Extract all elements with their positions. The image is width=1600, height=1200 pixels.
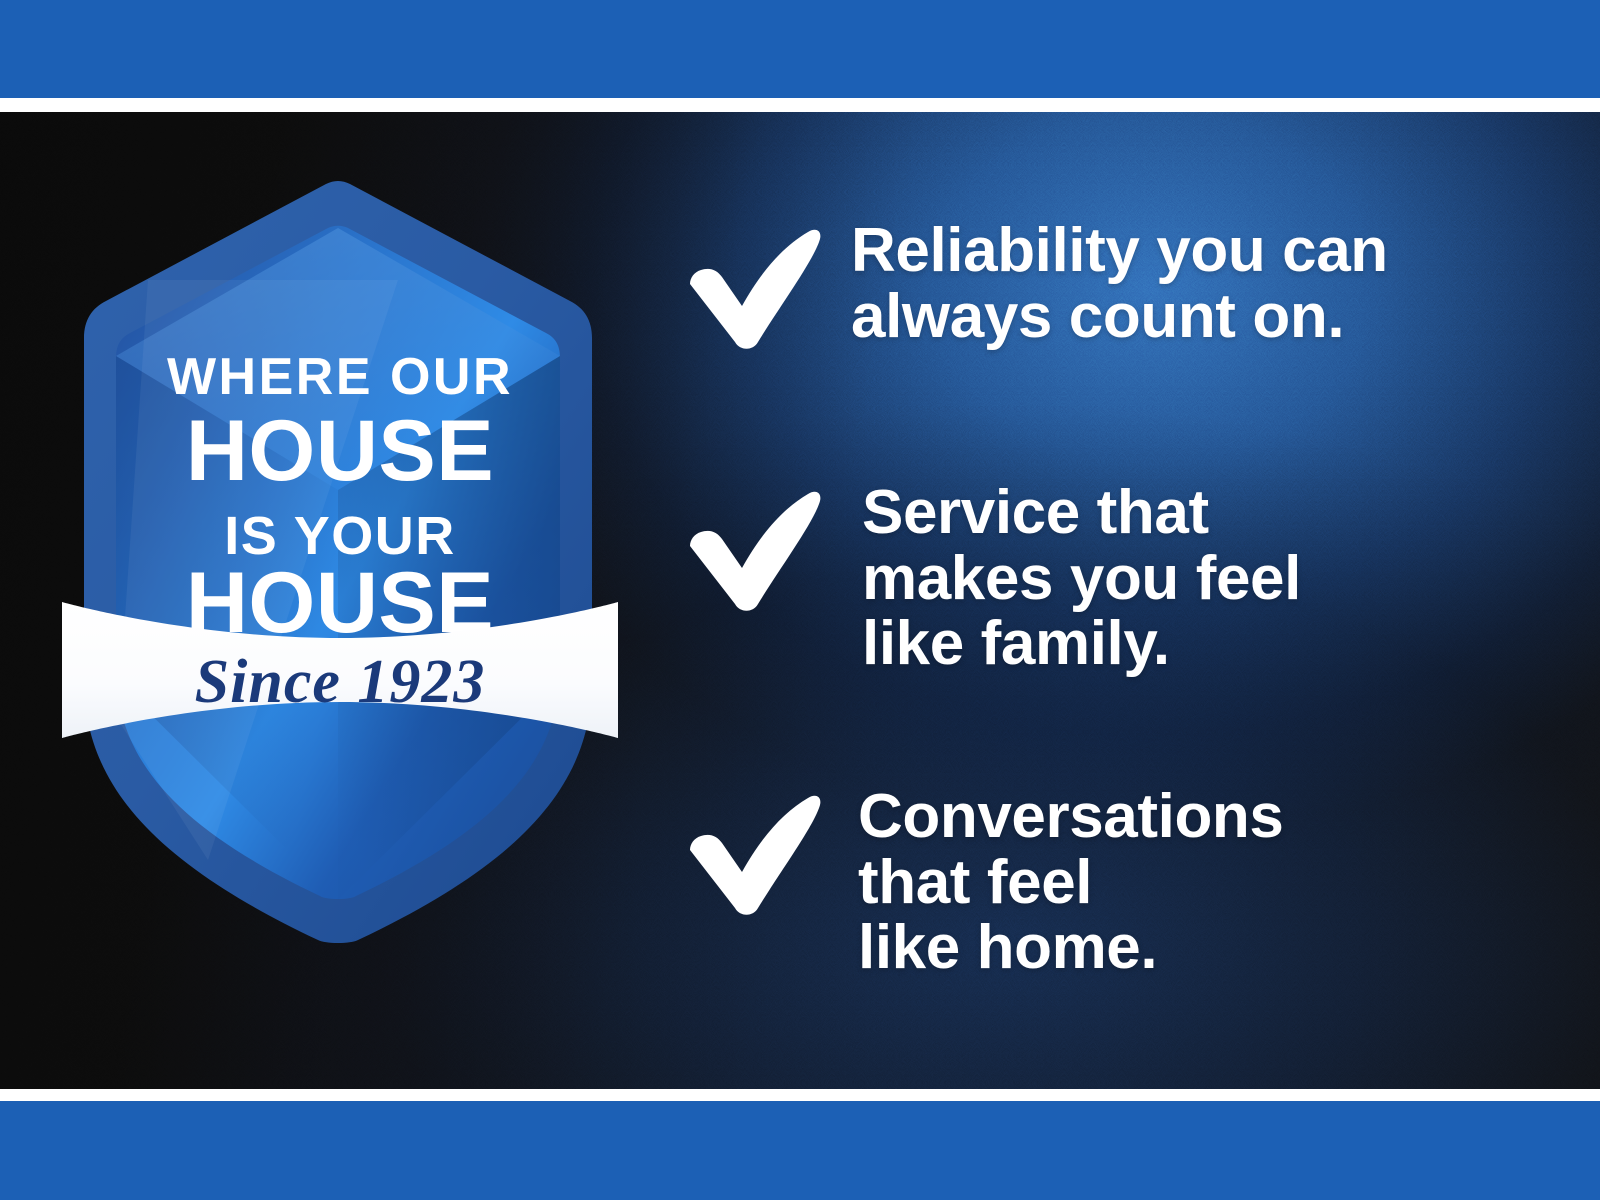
promo-poster: WHERE OUR HOUSE IS YOUR HOUSE Since 1923… — [0, 0, 1600, 1200]
shield-line-1: WHERE OUR — [167, 348, 513, 406]
top-brand-bar — [0, 0, 1600, 98]
list-item: Conversations that feel like home. — [672, 784, 1283, 981]
since-banner-text: Since 1923 — [195, 648, 486, 716]
list-item-label: Conversations that feel like home. — [824, 784, 1283, 981]
checkmark-icon — [672, 484, 824, 614]
checkmark-icon — [672, 788, 824, 918]
list-item-label: Reliability you can always count on. — [824, 218, 1388, 349]
bottom-brand-bar — [0, 1101, 1600, 1200]
list-item: Reliability you can always count on. — [672, 218, 1388, 352]
heritage-shield-badge: WHERE OUR HOUSE IS YOUR HOUSE Since 1923 — [58, 160, 618, 950]
shield-line-2: HOUSE — [186, 403, 494, 499]
list-item-label: Service that makes you feel like family. — [824, 480, 1301, 677]
list-item: Service that makes you feel like family. — [672, 480, 1301, 677]
checkmark-icon — [672, 222, 824, 352]
benefits-list: Reliability you can always count on. Ser… — [672, 112, 1572, 1089]
